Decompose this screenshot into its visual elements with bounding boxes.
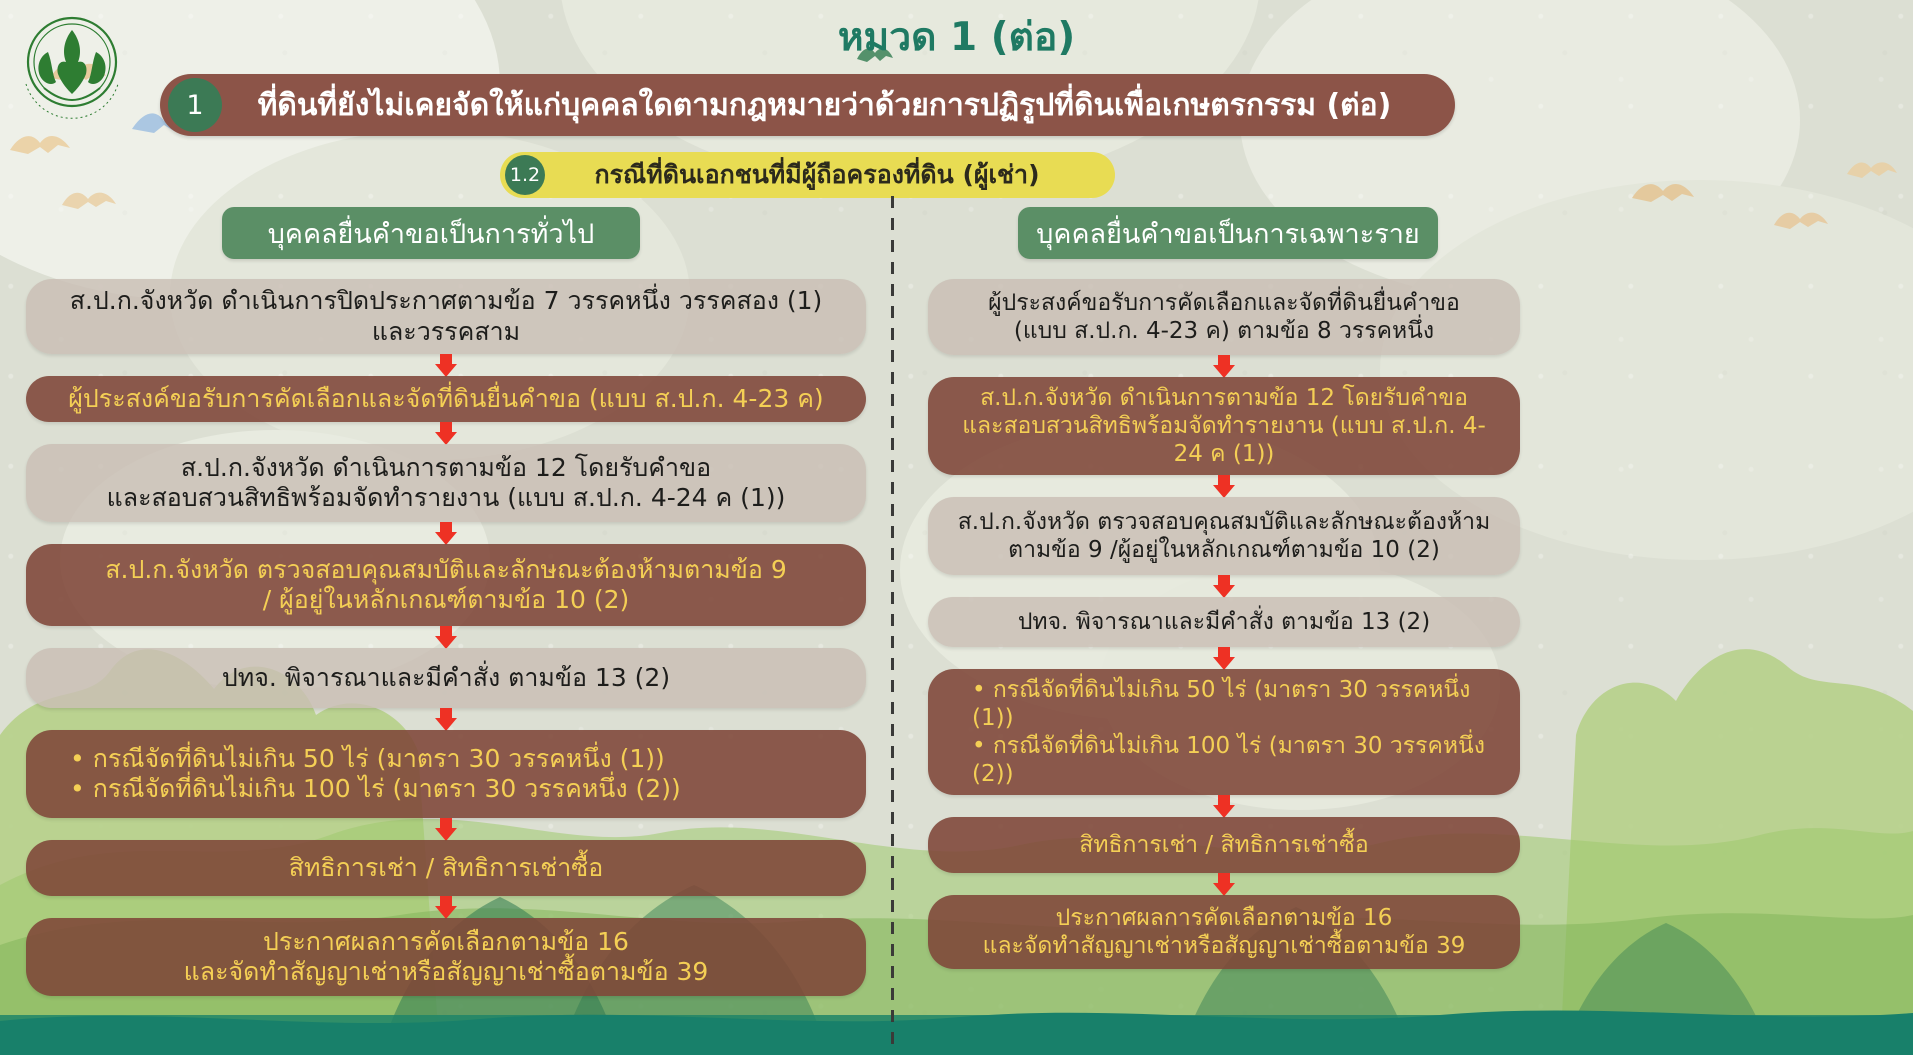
subsection-number-badge: 1.2 — [505, 155, 545, 195]
flow-arrow-icon — [928, 795, 1520, 817]
flow-node: สิทธิการเช่า / สิทธิการเช่าซื้อ — [928, 817, 1520, 873]
slide-root: หมวด 1 (ต่อ) 1 ที่ดินที่ยังไม่เคยจัดให้แ… — [0, 0, 1913, 1055]
flow-node-text: • กรณีจัดที่ดินไม่เกิน 50 ไร่ (มาตรา 30 … — [972, 676, 1500, 788]
flow-node: ส.ป.ก.จังหวัด ดำเนินการปิดประกาศตามข้อ 7… — [26, 279, 866, 354]
flow-node: ผู้ประสงค์ขอรับการคัดเลือกและจัดที่ดินยื… — [928, 279, 1520, 355]
flow-node: ปทจ. พิจารณาและมีคำสั่ง ตามข้อ 13 (2) — [26, 648, 866, 708]
flow-arrow-icon — [928, 575, 1520, 597]
flow-node-text: ผู้ประสงค์ขอรับการคัดเลือกและจัดที่ดินยื… — [46, 384, 846, 415]
flow-arrow-icon — [26, 522, 866, 544]
section-header-text: ที่ดินที่ยังไม่เคยจัดให้แก่บุคคลใดตามกฎห… — [222, 89, 1455, 122]
flow-arrow-icon — [928, 873, 1520, 895]
section-header-bar: 1 ที่ดินที่ยังไม่เคยจัดให้แก่บุคคลใดตามก… — [160, 74, 1455, 136]
flow-node-text: ส.ป.ก.จังหวัด ดำเนินการตามข้อ 12 โดยรับค… — [46, 453, 846, 514]
subsection-header-bar: 1.2 กรณีที่ดินเอกชนที่มีผู้ถือครองที่ดิน… — [500, 152, 1115, 198]
flow-node: • กรณีจัดที่ดินไม่เกิน 50 ไร่ (มาตรา 30 … — [26, 730, 866, 818]
flow-node-text: ปทจ. พิจารณาและมีคำสั่ง ตามข้อ 13 (2) — [948, 608, 1500, 636]
flow-arrow-icon — [26, 896, 866, 918]
flow-arrow-icon — [928, 647, 1520, 669]
flow-node: ประกาศผลการคัดเลือกตามข้อ 16และจัดทำสัญญ… — [26, 918, 866, 996]
flow-arrow-icon — [26, 708, 866, 730]
page-title: หมวด 1 (ต่อ) — [0, 6, 1913, 68]
flow-node-text: ส.ป.ก.จังหวัด ตรวจสอบคุณสมบัติและลักษณะต… — [948, 508, 1500, 564]
flow-node-text: ส.ป.ก.จังหวัด ดำเนินการตามข้อ 12 โดยรับค… — [948, 384, 1500, 468]
column-header-specific: บุคคลยื่นคำขอเป็นการเฉพาะราย — [1018, 207, 1438, 259]
column-header-general: บุคคลยื่นคำขอเป็นการทั่วไป — [222, 207, 640, 259]
flow-node-text: สิทธิการเช่า / สิทธิการเช่าซื้อ — [948, 831, 1500, 859]
flow-node: ผู้ประสงค์ขอรับการคัดเลือกและจัดที่ดินยื… — [26, 376, 866, 422]
flow-arrow-icon — [928, 475, 1520, 497]
flow-node-text: ประกาศผลการคัดเลือกตามข้อ 16และจัดทำสัญญ… — [948, 904, 1500, 960]
flow-node-text: ประกาศผลการคัดเลือกตามข้อ 16และจัดทำสัญญ… — [46, 927, 846, 988]
subsection-header-text: กรณีที่ดินเอกชนที่มีผู้ถือครองที่ดิน (ผู… — [545, 161, 1115, 189]
slide-content: หมวด 1 (ต่อ) 1 ที่ดินที่ยังไม่เคยจัดให้แ… — [0, 0, 1913, 1055]
flow-node-text: • กรณีจัดที่ดินไม่เกิน 50 ไร่ (มาตรา 30 … — [70, 744, 846, 805]
flow-arrow-icon — [26, 354, 866, 376]
flow-node: ส.ป.ก.จังหวัด ดำเนินการตามข้อ 12 โดยรับค… — [26, 444, 866, 522]
flow-node-text: ผู้ประสงค์ขอรับการคัดเลือกและจัดที่ดินยื… — [948, 289, 1500, 345]
flow-node: ส.ป.ก.จังหวัด ตรวจสอบคุณสมบัติและลักษณะต… — [928, 497, 1520, 575]
column-divider — [891, 196, 894, 1051]
flow-node: ประกาศผลการคัดเลือกตามข้อ 16และจัดทำสัญญ… — [928, 895, 1520, 969]
flow-arrow-icon — [26, 818, 866, 840]
section-number-badge: 1 — [168, 78, 222, 132]
flow-arrow-icon — [928, 355, 1520, 377]
flow-node-text: ส.ป.ก.จังหวัด ดำเนินการปิดประกาศตามข้อ 7… — [46, 286, 846, 347]
flow-node: ปทจ. พิจารณาและมีคำสั่ง ตามข้อ 13 (2) — [928, 597, 1520, 647]
flow-node: ส.ป.ก.จังหวัด ตรวจสอบคุณสมบัติและลักษณะต… — [26, 544, 866, 626]
flow-node: สิทธิการเช่า / สิทธิการเช่าซื้อ — [26, 840, 866, 896]
flow-node-text: ส.ป.ก.จังหวัด ตรวจสอบคุณสมบัติและลักษณะต… — [46, 555, 846, 616]
flow-column-general: ส.ป.ก.จังหวัด ดำเนินการปิดประกาศตามข้อ 7… — [26, 279, 866, 996]
flow-node-text: ปทจ. พิจารณาและมีคำสั่ง ตามข้อ 13 (2) — [46, 663, 846, 694]
flow-arrow-icon — [26, 422, 866, 444]
flow-node: ส.ป.ก.จังหวัด ดำเนินการตามข้อ 12 โดยรับค… — [928, 377, 1520, 475]
flow-node-text: สิทธิการเช่า / สิทธิการเช่าซื้อ — [46, 853, 846, 884]
flow-column-specific: ผู้ประสงค์ขอรับการคัดเลือกและจัดที่ดินยื… — [928, 279, 1520, 969]
flow-arrow-icon — [26, 626, 866, 648]
flow-node: • กรณีจัดที่ดินไม่เกิน 50 ไร่ (มาตรา 30 … — [928, 669, 1520, 795]
